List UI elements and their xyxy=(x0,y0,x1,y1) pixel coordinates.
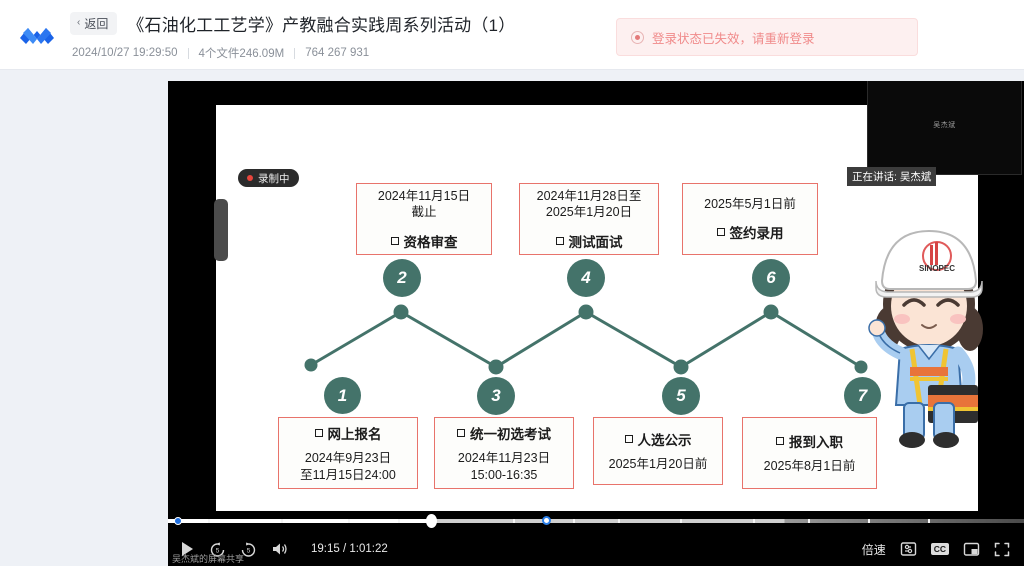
player-controls: 5 5 xyxy=(168,510,1024,566)
box-label-text: 统一初选考试 xyxy=(470,423,551,443)
timeline-box-bottom: 网上报名 2024年9月23日 至11月15日24:00 xyxy=(278,417,418,489)
meta-divider xyxy=(188,48,189,59)
title-row: ‹ 返回 《石油化工工艺学》产教融合实践周系列活动（1） xyxy=(70,8,515,38)
tencent-meeting-logo xyxy=(10,22,64,48)
checkbox-icon xyxy=(315,429,323,437)
box-label: 网上报名 xyxy=(315,423,382,443)
box-date-line: 2025年1月20日前 xyxy=(609,456,708,473)
box-label: 资格审查 xyxy=(391,231,458,251)
picture-in-picture-icon[interactable] xyxy=(963,542,980,557)
checkbox-icon xyxy=(776,437,784,445)
seek-start-marker[interactable] xyxy=(174,517,182,525)
step-circle-5: 5 xyxy=(662,377,700,415)
seek-chapter-marker[interactable] xyxy=(542,516,551,525)
box-label: 报到入职 xyxy=(776,431,843,451)
meta-datetime: 2024/10/27 19:29:50 xyxy=(72,47,178,59)
box-label: 签约录用 xyxy=(717,222,784,242)
box-date-line: 2024年11月28日至 xyxy=(537,188,642,205)
timeline-box-bottom: 统一初选考试 2024年11月23日 15:00-16:35 xyxy=(434,417,574,489)
controls-row: 5 5 xyxy=(168,532,1024,566)
header-text-block: ‹ 返回 《石油化工工艺学》产教融合实践周系列活动（1） 2024/10/27 … xyxy=(70,8,515,61)
active-speaker-tile[interactable]: 吴杰斌 正在讲话: 吴杰斌 xyxy=(867,81,1022,175)
speaker-tile-name: 吴杰斌 xyxy=(868,120,1021,130)
checkbox-icon xyxy=(556,237,564,245)
back-button[interactable]: ‹ 返回 xyxy=(70,12,117,35)
box-label: 人选公示 xyxy=(625,429,692,449)
box-label-text: 资格审查 xyxy=(404,231,458,251)
box-date-line: 2024年11月15日 xyxy=(378,188,470,205)
speaking-now-label: 正在讲话: 吴杰斌 xyxy=(847,167,936,186)
screen-share-note: 吴杰斌的屏幕共享 xyxy=(172,552,244,565)
step-circle-4: 4 xyxy=(567,259,605,297)
seek-bar[interactable] xyxy=(168,510,1024,532)
recording-dot-icon xyxy=(247,175,253,181)
svg-text:5: 5 xyxy=(247,547,251,554)
box-label-text: 签约录用 xyxy=(730,222,784,242)
box-date-line: 2024年9月23日 xyxy=(305,450,391,467)
time-display: 19:15 / 1:01:22 xyxy=(311,543,388,555)
seek-chapter-ticks xyxy=(168,519,1024,523)
closed-captions-button[interactable]: CC xyxy=(931,543,949,556)
slide-content: 2024年11月15日 截止 资格审查 2024年11月28日至 2025年1月… xyxy=(216,105,978,511)
box-date-line: 15:00-16:35 xyxy=(471,467,538,484)
checkbox-icon xyxy=(717,228,725,236)
seek-handle[interactable] xyxy=(426,514,437,528)
playback-speed-button[interactable]: 倍速 xyxy=(862,541,886,558)
fullscreen-icon[interactable] xyxy=(994,542,1010,557)
app-root: ‹ 返回 《石油化工工艺学》产教融合实践周系列活动（1） 2024/10/27 … xyxy=(0,0,1024,566)
timeline-box-top: 2025年5月1日前 签约录用 xyxy=(682,183,818,255)
recording-badge: 录制中 xyxy=(238,169,299,187)
box-label-text: 人选公示 xyxy=(638,429,692,449)
timeline-box-top: 2024年11月28日至 2025年1月20日 测试面试 xyxy=(519,183,659,255)
video-player[interactable]: 录制中 2024年11月15日 截止 xyxy=(168,81,1024,566)
timeline-box-bottom: 人选公示 2025年1月20日前 xyxy=(593,417,723,485)
box-date-line: 截止 xyxy=(411,204,436,221)
box-date-line: 至11月15日24:00 xyxy=(300,467,396,484)
box-date-line: 2025年8月1日前 xyxy=(764,458,856,475)
side-panel-handle[interactable] xyxy=(214,199,228,261)
checkbox-icon xyxy=(391,237,399,245)
back-button-label: 返回 xyxy=(84,15,108,32)
box-date-line: 2025年1月20日 xyxy=(546,204,632,221)
session-expired-alert: 登录状态已失效，请重新登录 xyxy=(616,18,918,56)
sinopec-worker-mascot: SINOPEC xyxy=(842,209,1017,449)
step-circle-1: 1 xyxy=(324,377,361,414)
chevron-left-icon: ‹ xyxy=(77,18,80,28)
box-label: 统一初选考试 xyxy=(457,423,551,443)
volume-icon[interactable] xyxy=(271,541,289,557)
box-label: 测试面试 xyxy=(556,231,623,251)
recording-label: 录制中 xyxy=(258,171,290,186)
box-label-text: 报到入职 xyxy=(789,431,843,451)
box-label-text: 网上报名 xyxy=(328,423,382,443)
svg-text:SINOPEC: SINOPEC xyxy=(919,264,955,273)
step-circle-2: 2 xyxy=(383,259,421,297)
meta-row: 2024/10/27 19:29:50 4个文件246.09M 764 267 … xyxy=(72,45,515,61)
meta-files: 4个文件246.09M xyxy=(199,45,285,61)
page-title: 《石油化工工艺学》产教融合实践周系列活动（1） xyxy=(127,11,515,36)
timeline-box-top: 2024年11月15日 截止 资格审查 xyxy=(356,183,492,255)
shared-screen-stage: 2024年11月15日 截止 资格审查 2024年11月28日至 2025年1月… xyxy=(216,105,978,511)
box-label-text: 测试面试 xyxy=(569,231,623,251)
box-date-line: 2025年5月1日前 xyxy=(704,196,796,213)
controls-right-group: 倍速 CC xyxy=(862,541,1010,558)
alert-message: 登录状态已失效，请重新登录 xyxy=(652,28,815,47)
settings-icon[interactable] xyxy=(900,541,917,557)
checkbox-icon xyxy=(625,435,633,443)
error-circle-icon xyxy=(631,31,644,44)
meta-divider xyxy=(294,48,295,59)
step-circle-6: 6 xyxy=(752,259,790,297)
meta-meeting-id: 764 267 931 xyxy=(305,47,369,59)
step-circle-3: 3 xyxy=(477,377,515,415)
checkbox-icon xyxy=(457,429,465,437)
box-date-line: 2024年11月23日 xyxy=(458,450,550,467)
